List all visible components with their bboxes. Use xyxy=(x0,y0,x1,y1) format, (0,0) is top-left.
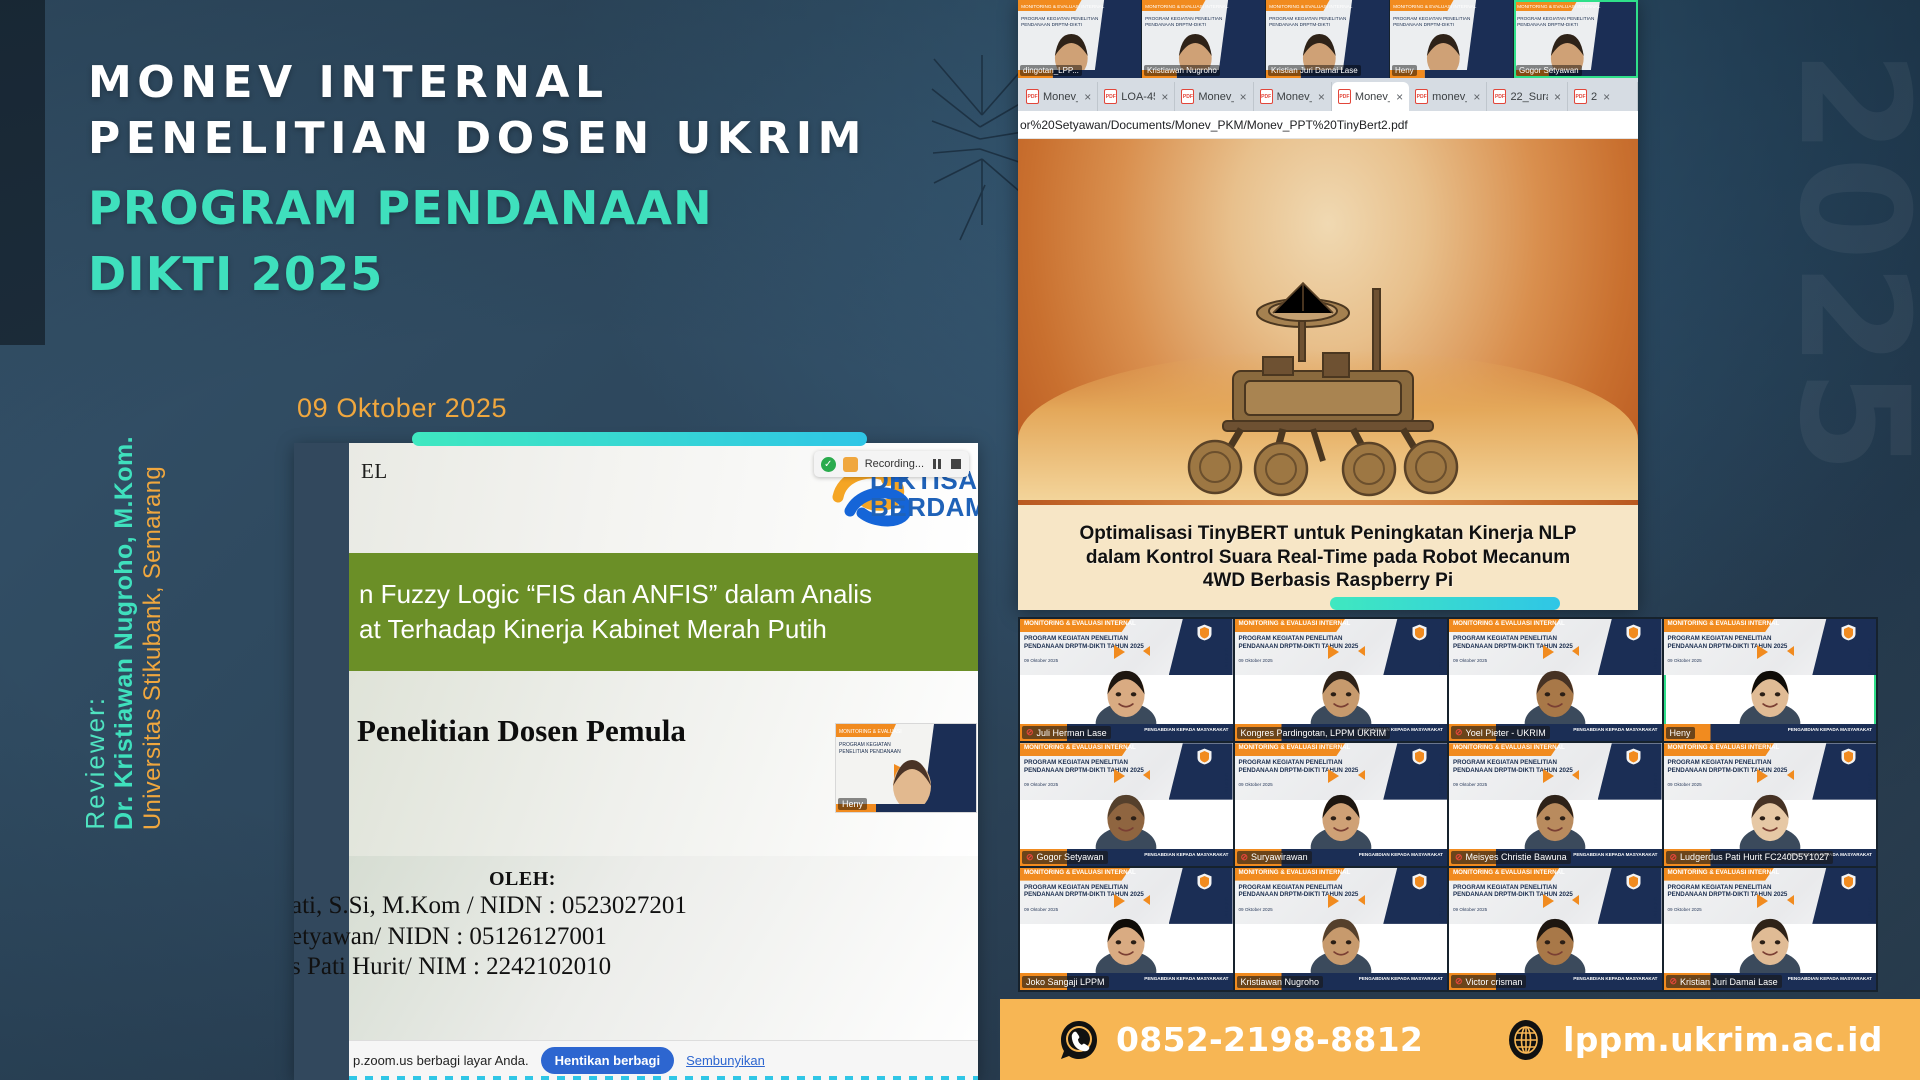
svg-text:PROGRAM KEGIATAN PENELITIAN: PROGRAM KEGIATAN PENELITIAN xyxy=(1393,16,1470,21)
banner-title-1: MONITORING & EVALUASI INTERNAL xyxy=(1239,869,1351,876)
banner-date: 09 Oktober 2025 xyxy=(1453,907,1487,912)
pdf-file-icon: PDF xyxy=(1415,89,1428,104)
participant-name-label: ⊘Kristian Juri Damai Lase xyxy=(1666,975,1782,988)
zoom-strip-tile[interactable]: MONITORING & EVALUASI INTERNALPROGRAM KE… xyxy=(1266,0,1390,78)
slide-oleh-label: OLEH: xyxy=(489,868,978,891)
zoom-strip-tile[interactable]: MONITORING & EVALUASI INTERNALPROGRAM KE… xyxy=(1514,0,1638,78)
slide-author-2: etyawan/ NIDN : 05126127001 xyxy=(294,922,978,953)
banner-side-label: UKRIM xyxy=(1437,897,1443,918)
pdf-file-icon: PDF xyxy=(1260,89,1273,104)
banner-side-label: UKRIM xyxy=(1652,648,1658,669)
participant-name-text: Yoel Pieter - UKRIM xyxy=(1466,728,1546,738)
close-icon[interactable]: × xyxy=(1603,90,1610,104)
close-icon[interactable]: × xyxy=(1396,90,1403,104)
slide-green-title: n Fuzzy Logic “FIS dan ANFIS” dalam Anal… xyxy=(349,553,978,671)
participant-name-text: Heny xyxy=(1670,728,1691,738)
page-title: MONEV INTERNAL PENELITIAN DOSEN UKRIM PR… xyxy=(88,55,918,301)
close-icon[interactable]: × xyxy=(1084,90,1091,104)
svg-text:PROGRAM KEGIATAN: PROGRAM KEGIATAN xyxy=(839,742,891,748)
pdf-title-line-2: dalam Kontrol Suara Real-Time pada Robot… xyxy=(1086,546,1570,570)
zoom-top-strip: MONITORING & EVALUASI INTERNALPROGRAM KE… xyxy=(1018,0,1638,78)
pdf-title-line-3: 4WD Berbasis Raspberry Pi xyxy=(1203,569,1453,593)
banner-side-label: UKRIM xyxy=(1866,773,1872,794)
mic-muted-icon: ⊘ xyxy=(1455,976,1463,987)
banner-title-2: PROGRAM KEGIATAN PENELITIANPENDANAAN DRP… xyxy=(1239,759,1359,775)
participant-grid: MONITORING & EVALUASI INTERNALPROGRAM KE… xyxy=(1018,617,1878,992)
participant-tile[interactable]: MONITORING & EVALUASI INTERNALPROGRAM KE… xyxy=(1664,619,1877,741)
banner-title-1: MONITORING & EVALUASI INTERNAL xyxy=(1453,744,1565,751)
svg-text:PROGRAM KEGIATAN PENELITIAN: PROGRAM KEGIATAN PENELITIAN xyxy=(1269,16,1346,21)
browser-tab-6[interactable]: PDF22_Sura× xyxy=(1487,82,1568,111)
browser-window: MONITORING & EVALUASI INTERNALPROGRAM KE… xyxy=(1018,0,1638,610)
reviewer-block: Reviewer: Dr. Kristiawan Nugroho, M.Kom.… xyxy=(82,400,165,830)
banner-arrow-icon xyxy=(1757,894,1768,908)
svg-text:PENDANAAN DRPTM-DIKTI: PENDANAAN DRPTM-DIKTI xyxy=(1269,22,1330,27)
banner-title-2: PROGRAM KEGIATAN PENELITIANPENDANAAN DRP… xyxy=(1668,635,1788,651)
banner-title-2: PROGRAM KEGIATAN PENELITIANPENDANAAN DRP… xyxy=(1453,759,1573,775)
browser-tab-label: Monev_ xyxy=(1043,91,1078,103)
participant-name-label: Joko Sangaji LPPM xyxy=(1022,976,1109,988)
slide-green-line-1: n Fuzzy Logic “FIS dan ANFIS” dalam Anal… xyxy=(359,577,978,612)
slide-canvas: 2025 MONEV INTERNAL PENELITIAN DOSEN UKR… xyxy=(0,0,1920,1080)
browser-tab-label: 2 xyxy=(1591,91,1597,103)
address-bar-url: or%20Setyawan/Documents/Monev_PKM/Monev_… xyxy=(1018,118,1408,132)
pdf-file-icon: PDF xyxy=(1574,89,1587,104)
banner-footer-text: PENGABDIAN KEPADA MASYARAKAT xyxy=(1788,727,1872,732)
banner-arrow-icon-2 xyxy=(1572,895,1579,905)
banner-title-2: PROGRAM KEGIATAN PENELITIANPENDANAAN DRP… xyxy=(1024,635,1144,651)
participant-name-text: Meisyes Christie Bawuna xyxy=(1466,852,1567,862)
zoom-strip-name: dingotan_LPP... xyxy=(1020,65,1082,76)
banner-title-2: PROGRAM KEGIATAN PENELITIANPENDANAAN DRP… xyxy=(1024,759,1144,775)
event-date: 09 Oktober 2025 xyxy=(297,393,507,424)
participant-tile[interactable]: MONITORING & EVALUASI INTERNALPROGRAM KE… xyxy=(1235,619,1448,741)
shield-icon: ✓ xyxy=(821,457,836,472)
banner-title-1: MONITORING & EVALUASI INTERNAL xyxy=(1453,620,1565,627)
ukrim-crest-icon xyxy=(1625,623,1642,642)
mic-muted-icon: ⊘ xyxy=(1026,727,1034,738)
mic-muted-icon: ⊘ xyxy=(1241,852,1249,863)
webcam-thumbnail-name: Heny xyxy=(838,798,867,810)
webcam-thumbnail[interactable]: MONITORING & EVALUASI PROGRAM KEGIATAN P… xyxy=(835,723,977,813)
banner-date: 09 Oktober 2025 xyxy=(1453,782,1487,787)
slide-author-3: s Pati Hurit/ NIM : 2242102010 xyxy=(294,952,978,983)
reviewer-label: Reviewer: xyxy=(82,696,108,830)
participant-tile[interactable]: MONITORING & EVALUASI INTERNALPROGRAM KE… xyxy=(1020,868,1233,990)
stop-sharing-button[interactable]: Hentikan berbagi xyxy=(541,1047,674,1074)
browser-tab-strip: PDFMonev_×PDFLOA-45×PDFMonev_×PDFMonev_×… xyxy=(1018,78,1638,111)
contact-phone-number: 0852-2198-8812 xyxy=(1116,1020,1423,1059)
svg-text:PENDANAAN DRPTM-DIKTI: PENDANAAN DRPTM-DIKTI xyxy=(1517,22,1578,27)
ghost-year-watermark: 2025 xyxy=(1778,50,1920,475)
banner-date: 09 Oktober 2025 xyxy=(1024,658,1058,663)
svg-text:MONITORING & EVALUASI: MONITORING & EVALUASI xyxy=(839,729,902,735)
starburst-decoration xyxy=(930,55,1030,245)
browser-tab-label: LOA-45 xyxy=(1121,91,1155,103)
ukrim-crest-icon xyxy=(1411,747,1428,766)
subtitle-line-1: PROGRAM PENDANAAN xyxy=(88,182,918,234)
banner-title-2: PROGRAM KEGIATAN PENELITIANPENDANAAN DRP… xyxy=(1668,884,1788,900)
browser-tab-label: 22_Sura xyxy=(1510,91,1548,103)
banner-arrow-icon xyxy=(1328,894,1339,908)
participant-tile[interactable]: MONITORING & EVALUASI INTERNALPROGRAM KE… xyxy=(1020,619,1233,741)
banner-footer-text: PENGABDIAN KEPADA MASYARAKAT xyxy=(1144,976,1228,981)
ukrim-crest-icon xyxy=(1196,623,1213,642)
banner-arrow-icon xyxy=(1328,645,1339,659)
reviewer-name: Dr. Kristiawan Nugroho, M.Kom. xyxy=(112,436,137,830)
banner-date: 09 Oktober 2025 xyxy=(1239,658,1273,663)
banner-arrow-icon xyxy=(1757,769,1768,783)
participant-name-label: ⊘Yoel Pieter - UKRIM xyxy=(1451,726,1550,739)
subtitle-line-2: DIKTI 2025 xyxy=(88,248,918,300)
slide-accent-bar xyxy=(412,432,867,446)
participant-name-label: ⊘Meisyes Christie Bawuna xyxy=(1451,851,1571,864)
contact-website-url: lppm.ukrim.ac.id xyxy=(1563,1020,1883,1059)
participant-name-text: Suryawirawan xyxy=(1251,852,1308,862)
browser-tab-3[interactable]: PDFMonev_× xyxy=(1254,82,1332,111)
close-icon[interactable]: × xyxy=(1318,90,1325,104)
participant-name-label: ⊘Gogor Setyawan xyxy=(1022,851,1108,864)
banner-footer-text: PENGABDIAN KEPADA MASYARAKAT xyxy=(1573,727,1657,732)
pdf-file-icon: PDF xyxy=(1493,89,1506,104)
svg-text:PENELITIAN PENDANAAN: PENELITIAN PENDANAAN xyxy=(839,749,901,755)
close-icon[interactable]: × xyxy=(1161,90,1168,104)
slide-scheme-title: Penelitian Dosen Pemula xyxy=(357,713,686,749)
close-icon[interactable]: × xyxy=(1473,90,1480,104)
banner-arrow-icon xyxy=(1114,894,1125,908)
title-line-2: PENELITIAN DOSEN UKRIM xyxy=(88,111,918,167)
banner-side-label: UKRIM xyxy=(1652,897,1658,918)
banner-footer-text: PENGABDIAN KEPADA MASYARAKAT xyxy=(1144,727,1228,732)
participant-name-text: Joko Sangaji LPPM xyxy=(1026,977,1105,987)
banner-footer-text: PENGABDIAN KEPADA MASYARAKAT xyxy=(1788,976,1872,981)
banner-date: 09 Oktober 2025 xyxy=(1239,907,1273,912)
svg-text:MONITORING & EVALUASI INTERNAL: MONITORING & EVALUASI INTERNAL xyxy=(1517,4,1601,9)
browser-tab-0[interactable]: PDFMonev_× xyxy=(1020,82,1098,111)
banner-arrow-icon-2 xyxy=(1787,646,1794,656)
banner-side-label: UKRIM xyxy=(1866,648,1872,669)
banner-side-label: UKRIM xyxy=(1866,897,1872,918)
banner-footer-text: PENGABDIAN KEPADA MASYARAKAT xyxy=(1359,852,1443,857)
participant-tile[interactable]: MONITORING & EVALUASI INTERNALPROGRAM KE… xyxy=(1449,619,1662,741)
ukrim-crest-icon xyxy=(1196,747,1213,766)
banner-date: 09 Oktober 2025 xyxy=(1668,658,1702,663)
close-icon[interactable]: × xyxy=(1240,90,1247,104)
banner-arrow-icon xyxy=(1114,769,1125,783)
pdf-title-block: Optimalisasi TinyBERT untuk Peningkatan … xyxy=(1018,505,1638,610)
browser-tab-1[interactable]: PDFLOA-45× xyxy=(1098,82,1175,111)
banner-title-1: MONITORING & EVALUASI INTERNAL xyxy=(1024,744,1136,751)
banner-date: 09 Oktober 2025 xyxy=(1024,782,1058,787)
mic-muted-icon: ⊘ xyxy=(1455,852,1463,863)
participant-name-text: Juli Herman Lase xyxy=(1037,728,1107,738)
close-icon[interactable]: × xyxy=(1554,90,1561,104)
ukrim-crest-icon xyxy=(1625,872,1642,891)
participant-name-label: ⊘Suryawirawan xyxy=(1237,851,1312,864)
banner-side-label: UKRIM xyxy=(1652,773,1658,794)
pdf-accent-bar xyxy=(1330,597,1560,610)
banner-title-1: MONITORING & EVALUASI INTERNAL xyxy=(1239,744,1351,751)
banner-title-1: MONITORING & EVALUASI INTERNAL xyxy=(1668,744,1780,751)
svg-text:PROGRAM KEGIATAN PENELITIAN: PROGRAM KEGIATAN PENELITIAN xyxy=(1021,16,1098,21)
mic-muted-icon: ⊘ xyxy=(1455,727,1463,738)
ukrim-crest-icon xyxy=(1840,623,1857,642)
participant-tile[interactable]: MONITORING & EVALUASI INTERNALPROGRAM KE… xyxy=(1235,868,1448,990)
browser-tab-4[interactable]: PDFMonev_× xyxy=(1332,82,1409,111)
banner-arrow-icon xyxy=(1543,645,1554,659)
screen-share-border xyxy=(349,1076,978,1080)
banner-arrow-icon-2 xyxy=(1572,770,1579,780)
zoom-strip-tile[interactable]: MONITORING & EVALUASI INTERNALPROGRAM KE… xyxy=(1390,0,1514,78)
slide-header-area: EL DIKTISAINTEK BERDAMPAK ✓ Recording... xyxy=(349,443,978,553)
banner-arrow-icon xyxy=(1114,645,1125,659)
banner-arrow-icon xyxy=(1757,645,1768,659)
svg-text:MONITORING & EVALUASI INTERNAL: MONITORING & EVALUASI INTERNAL xyxy=(1021,4,1105,9)
banner-date: 09 Oktober 2025 xyxy=(1668,782,1702,787)
browser-tab-7[interactable]: PDF2× xyxy=(1568,82,1638,111)
svg-text:MONITORING & EVALUASI INTERNAL: MONITORING & EVALUASI INTERNAL xyxy=(1145,4,1229,9)
ukrim-crest-icon xyxy=(1196,872,1213,891)
banner-side-label: UKRIM xyxy=(1223,773,1229,794)
share-status-text: p.zoom.us berbagi layar Anda. xyxy=(353,1053,529,1068)
browser-address-bar[interactable]: or%20Setyawan/Documents/Monev_PKM/Monev_… xyxy=(1018,111,1638,139)
participant-name-label: Kongres Pardingotan, LPPM UKRIM xyxy=(1237,727,1391,739)
banner-arrow-icon-2 xyxy=(1787,895,1794,905)
banner-side-label: UKRIM xyxy=(1437,648,1443,669)
svg-text:MONITORING & EVALUASI INTERNAL: MONITORING & EVALUASI INTERNAL xyxy=(1269,4,1353,9)
participant-tile[interactable]: MONITORING & EVALUASI INTERNALPROGRAM KE… xyxy=(1664,743,1877,865)
banner-arrow-icon-2 xyxy=(1572,646,1579,656)
participant-name-text: Ludgerdus Pati Hurit FC240D5Y1027 xyxy=(1680,852,1829,862)
banner-title-1: MONITORING & EVALUASI INTERNAL xyxy=(1024,620,1136,627)
ukrim-crest-icon xyxy=(1411,623,1428,642)
zoom-strip-name: Gogor Setyawan xyxy=(1516,65,1582,76)
participant-name-label: ⊘Juli Herman Lase xyxy=(1022,726,1111,739)
slide-author-1: ati, S.Si, M.Kom / NIDN : 0523027201 xyxy=(294,891,978,922)
zoom-share-bar: p.zoom.us berbagi layar Anda. Hentikan b… xyxy=(349,1040,978,1080)
participant-name-label: ⊘Ludgerdus Pati Hurit FC240D5Y1027 xyxy=(1666,851,1834,864)
banner-title-2: PROGRAM KEGIATAN PENELITIANPENDANAAN DRP… xyxy=(1453,635,1573,651)
contact-bar: 0852-2198-8812 lppm.ukrim.ac.id xyxy=(1000,999,1920,1080)
banner-date: 09 Oktober 2025 xyxy=(1453,658,1487,663)
banner-arrow-icon-2 xyxy=(1143,770,1150,780)
banner-arrow-icon-2 xyxy=(1358,895,1365,905)
participant-name-text: Gogor Setyawan xyxy=(1037,852,1104,862)
svg-text:PENDANAAN DRPTM-DIKTI: PENDANAAN DRPTM-DIKTI xyxy=(1145,22,1206,27)
ukrim-crest-icon xyxy=(1840,747,1857,766)
zoom-strip-name: Heny xyxy=(1392,65,1417,76)
banner-title-1: MONITORING & EVALUASI INTERNAL xyxy=(1668,620,1780,627)
banner-date: 09 Oktober 2025 xyxy=(1668,907,1702,912)
banner-footer-text: PENGABDIAN KEPADA MASYARAKAT xyxy=(1573,976,1657,981)
banner-title-1: MONITORING & EVALUASI INTERNAL xyxy=(1668,869,1780,876)
pause-icon[interactable] xyxy=(931,458,943,470)
zoom-strip-tile[interactable]: MONITORING & EVALUASI INTERNALPROGRAM KE… xyxy=(1142,0,1266,78)
banner-arrow-icon-2 xyxy=(1358,646,1365,656)
pdf-file-icon: PDF xyxy=(1026,89,1039,104)
slide-left-bar xyxy=(294,443,349,1080)
participant-tile[interactable]: MONITORING & EVALUASI INTERNALPROGRAM KE… xyxy=(1235,743,1448,865)
banner-title-2: PROGRAM KEGIATAN PENELITIANPENDANAAN DRP… xyxy=(1239,635,1359,651)
banner-arrow-icon-2 xyxy=(1143,895,1150,905)
contact-phone[interactable]: 0852-2198-8812 xyxy=(1058,1019,1423,1061)
recording-status-label: Recording... xyxy=(865,458,924,470)
banner-footer-text: PENGABDIAN KEPADA MASYARAKAT xyxy=(1359,976,1443,981)
diktisaintek-line2: BERDAMPAK xyxy=(870,494,978,521)
whatsapp-phone-icon xyxy=(1058,1019,1100,1061)
browser-tab-label: Monev_ xyxy=(1198,91,1233,103)
banner-arrow-icon xyxy=(1543,769,1554,783)
mic-muted-icon: ⊘ xyxy=(1026,852,1034,863)
banner-side-label: UKRIM xyxy=(1437,773,1443,794)
participant-name-label: Heny xyxy=(1666,727,1695,739)
banner-arrow-icon xyxy=(1328,769,1339,783)
banner-title-1: MONITORING & EVALUASI INTERNAL xyxy=(1239,620,1351,627)
participant-name-label: Kristiawan Nugroho xyxy=(1237,976,1324,988)
banner-title-2: PROGRAM KEGIATAN PENELITIANPENDANAAN DRP… xyxy=(1024,884,1144,900)
mic-muted-icon: ⊘ xyxy=(1670,852,1678,863)
banner-side-label: UKRIM xyxy=(1223,897,1229,918)
banner-arrow-icon-2 xyxy=(1787,770,1794,780)
ukrim-crest-icon xyxy=(1411,872,1428,891)
mic-muted-icon: ⊘ xyxy=(1670,976,1678,987)
svg-text:MONITORING & EVALUASI INTERNAL: MONITORING & EVALUASI INTERNAL xyxy=(1393,4,1477,9)
slide-green-line-2: at Terhadap Kinerja Kabinet Merah Putih xyxy=(359,612,978,647)
banner-title-2: PROGRAM KEGIATAN PENELITIANPENDANAAN DRP… xyxy=(1453,884,1573,900)
browser-tab-label: Monev_ xyxy=(1355,91,1390,103)
zoom-strip-tile[interactable]: MONITORING & EVALUASI INTERNALPROGRAM KE… xyxy=(1018,0,1142,78)
reviewer-affiliation: Universitas Stikubank, Semarang xyxy=(141,466,165,830)
participant-name-text: Kristian Juri Damai Lase xyxy=(1680,977,1778,987)
svg-text:PENDANAAN DRPTM-DIKTI: PENDANAAN DRPTM-DIKTI xyxy=(1021,22,1082,27)
pdf-file-icon: PDF xyxy=(1338,89,1351,104)
ukrim-crest-icon xyxy=(1625,747,1642,766)
ukrim-crest-icon xyxy=(1840,872,1857,891)
participant-tile[interactable]: MONITORING & EVALUASI INTERNALPROGRAM KE… xyxy=(1449,868,1662,990)
stop-icon[interactable] xyxy=(950,458,962,470)
zoom-strip-name: Kristiawan Nugroho xyxy=(1144,65,1220,76)
participant-tile[interactable]: MONITORING & EVALUASI INTERNALPROGRAM KE… xyxy=(1664,868,1877,990)
zoom-recording-widget[interactable]: ✓ Recording... xyxy=(814,451,969,477)
browser-tab-5[interactable]: PDFmonev_× xyxy=(1409,82,1487,111)
pdf-viewer[interactable]: Optimalisasi TinyBERT untuk Peningkatan … xyxy=(1018,139,1638,610)
slide-header-label: EL xyxy=(361,459,388,484)
banner-arrow-icon-2 xyxy=(1143,646,1150,656)
title-line-1: MONEV INTERNAL xyxy=(88,55,918,111)
banner-side-label: UKRIM xyxy=(1223,648,1229,669)
screen-share-icon xyxy=(843,457,858,472)
participant-name-text: Kristiawan Nugroho xyxy=(1241,977,1320,987)
mars-rover-illustration xyxy=(1163,271,1493,501)
pdf-file-icon: PDF xyxy=(1181,89,1194,104)
browser-tab-label: monev_ xyxy=(1432,91,1467,103)
hide-sharing-link[interactable]: Sembunyikan xyxy=(686,1053,765,1068)
browser-tab-label: Monev_ xyxy=(1277,91,1312,103)
svg-text:PENDANAAN DRPTM-DIKTI: PENDANAAN DRPTM-DIKTI xyxy=(1393,22,1454,27)
participant-name-label: ⊘Victor crisman xyxy=(1451,975,1526,988)
contact-website[interactable]: lppm.ukrim.ac.id xyxy=(1505,1019,1883,1061)
participant-tile[interactable]: MONITORING & EVALUASI INTERNALPROGRAM KE… xyxy=(1020,743,1233,865)
pdf-title-line-1: Optimalisasi TinyBERT untuk Peningkatan … xyxy=(1080,522,1577,546)
presentation-screenshot: EL DIKTISAINTEK BERDAMPAK ✓ Recording...… xyxy=(294,443,978,1080)
browser-tab-2[interactable]: PDFMonev_× xyxy=(1175,82,1253,111)
banner-footer-text: PENGABDIAN KEPADA MASYARAKAT xyxy=(1573,852,1657,857)
banner-title-2: PROGRAM KEGIATAN PENELITIANPENDANAAN DRP… xyxy=(1668,759,1788,775)
participant-name-text: Victor crisman xyxy=(1466,977,1523,987)
zoom-strip-name: Kristian Juri Damai Lase xyxy=(1268,65,1361,76)
participant-name-text: Kongres Pardingotan, LPPM UKRIM xyxy=(1241,728,1387,738)
banner-arrow-icon xyxy=(1543,894,1554,908)
banner-date: 09 Oktober 2025 xyxy=(1239,782,1273,787)
svg-text:PROGRAM KEGIATAN PENELITIAN: PROGRAM KEGIATAN PENELITIAN xyxy=(1145,16,1222,21)
participant-tile[interactable]: MONITORING & EVALUASI INTERNALPROGRAM KE… xyxy=(1449,743,1662,865)
banner-date: 09 Oktober 2025 xyxy=(1024,907,1058,912)
svg-text:PROGRAM KEGIATAN PENELITIAN: PROGRAM KEGIATAN PENELITIAN xyxy=(1517,16,1594,21)
globe-icon xyxy=(1505,1019,1547,1061)
banner-arrow-icon-2 xyxy=(1358,770,1365,780)
banner-title-2: PROGRAM KEGIATAN PENELITIANPENDANAAN DRP… xyxy=(1239,884,1359,900)
banner-title-1: MONITORING & EVALUASI INTERNAL xyxy=(1024,869,1136,876)
banner-footer-strip: PENGABDIAN KEPADA MASYARAKAT xyxy=(1664,724,1877,741)
pdf-file-icon: PDF xyxy=(1104,89,1117,104)
banner-title-1: MONITORING & EVALUASI INTERNAL xyxy=(1453,869,1565,876)
banner-footer-text: PENGABDIAN KEPADA MASYARAKAT xyxy=(1144,852,1228,857)
